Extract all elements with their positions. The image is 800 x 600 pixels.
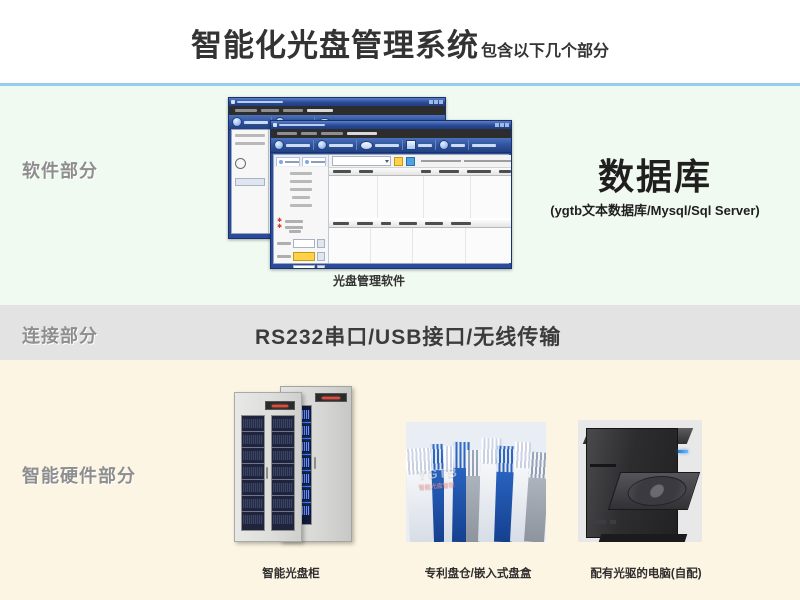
photo-watermark: YGTB 智能光盘管理 — [417, 465, 459, 492]
refresh-icon — [439, 140, 449, 150]
borrow-table-header — [329, 220, 512, 228]
column-header[interactable] — [357, 222, 373, 225]
page-title-main: 智能化光盘管理系统 — [191, 20, 479, 65]
form-field-highlighted[interactable] — [277, 252, 325, 261]
database-subtitle: (ygtb文本数据库/Mysql/Sql Server) — [525, 200, 785, 219]
database-title: 数据库 — [525, 158, 785, 196]
window-menubar-back[interactable] — [229, 106, 445, 115]
page-title-sub: 包含以下几个部分 — [481, 37, 609, 61]
table-column — [378, 176, 424, 218]
toolbar-button[interactable] — [439, 140, 465, 150]
cabinet-door-handle — [266, 467, 268, 479]
toolbar-separator — [402, 140, 403, 150]
column-header[interactable] — [399, 222, 417, 225]
column-header[interactable] — [425, 222, 443, 225]
table-column — [371, 228, 413, 263]
required-field-label — [285, 226, 303, 229]
menu-item[interactable] — [321, 132, 343, 135]
app-icon — [273, 123, 277, 127]
form-field-picker-button[interactable] — [317, 265, 325, 269]
pc-power-led — [678, 450, 688, 453]
menu-item[interactable] — [283, 109, 303, 112]
maximize-icon[interactable] — [434, 100, 438, 104]
menu-item[interactable] — [261, 109, 279, 112]
app-icon — [231, 100, 235, 104]
toolbar-button[interactable] — [317, 140, 353, 150]
cabinet-left-unit — [234, 392, 302, 542]
search-input[interactable] — [332, 156, 391, 166]
form-field-label — [277, 242, 291, 245]
pc-drive-slot — [590, 464, 616, 467]
disc-table-body[interactable] — [329, 176, 512, 218]
poster-root: 智能化光盘管理系统 包含以下几个部分 软件部分 — [0, 0, 800, 600]
field-row — [290, 188, 312, 191]
toolbar-button[interactable] — [232, 117, 268, 127]
form-field[interactable] — [277, 265, 325, 269]
column-header[interactable] — [359, 170, 373, 173]
column-header[interactable] — [467, 170, 491, 173]
toolbar-button-label — [418, 144, 432, 147]
window-menubar-front[interactable] — [271, 129, 511, 138]
column-header[interactable] — [421, 170, 431, 173]
field-row — [290, 172, 312, 175]
required-field-label — [285, 220, 303, 223]
cabinet-door-handle — [314, 457, 316, 469]
database-block: 数据库 (ygtb文本数据库/Mysql/Sql Server) — [525, 158, 785, 219]
toolbar-separator — [356, 140, 357, 150]
left-panel-form — [274, 239, 328, 269]
window-title-text — [279, 124, 325, 126]
table-column — [466, 228, 512, 263]
panel-button[interactable] — [235, 178, 265, 186]
page-title: 智能化光盘管理系统 包含以下几个部分 — [191, 20, 609, 65]
form-field-label — [277, 268, 291, 269]
form-input-active[interactable] — [293, 252, 315, 261]
chevron-down-icon — [385, 160, 389, 163]
hardware-caption-tray: 专利盘仓/嵌入式盘盒 — [398, 565, 558, 581]
software-screenshot-caption: 光盘管理软件 — [228, 272, 510, 289]
cabinet-glass-door-right — [271, 415, 295, 531]
field-row — [290, 204, 312, 207]
panel-row — [235, 142, 265, 145]
pc-base — [599, 534, 688, 542]
field-row — [290, 180, 312, 183]
tab-label — [311, 161, 325, 163]
hardware-section-label: 智能硬件部分 — [22, 462, 136, 488]
tab-icon — [279, 160, 283, 164]
content-panel — [329, 155, 512, 263]
window-toolbar-front[interactable] — [271, 138, 511, 153]
maximize-icon[interactable] — [500, 123, 504, 127]
page-header: 智能化光盘管理系统 包含以下几个部分 — [0, 0, 800, 84]
connection-interfaces-text: RS232串口/USB接口/无线传输 — [255, 321, 561, 351]
column-header[interactable] — [333, 222, 349, 225]
tab-icon — [305, 160, 309, 164]
form-input[interactable] — [293, 265, 315, 269]
toolbar-button[interactable] — [406, 140, 432, 150]
toolbar-separator — [435, 140, 436, 150]
form-field-picker-button[interactable] — [317, 252, 325, 261]
tab-disc-info[interactable] — [276, 157, 300, 166]
toolbar-button-label — [375, 144, 399, 147]
disc-out-icon — [317, 140, 327, 150]
menu-item[interactable] — [301, 132, 317, 135]
window-body-front: ✱ ✱ — [273, 154, 509, 264]
menu-item[interactable] — [235, 109, 257, 112]
field-row — [274, 230, 328, 233]
toolbar-button-label — [244, 121, 268, 124]
toolbar-separator — [468, 140, 469, 150]
window-controls[interactable] — [495, 123, 509, 127]
field-label — [289, 230, 301, 233]
toolbar-button[interactable] — [360, 141, 399, 150]
field-row — [292, 196, 310, 199]
minimize-icon[interactable] — [429, 100, 433, 104]
disc-table-header — [329, 168, 512, 176]
left-panel: ✱ ✱ — [274, 155, 329, 263]
minimize-icon[interactable] — [495, 123, 499, 127]
left-panel-tabs[interactable] — [274, 155, 328, 167]
toolbar-button-label — [451, 144, 465, 147]
pc-front-button — [592, 520, 606, 524]
table-column — [329, 228, 371, 263]
table-column — [413, 228, 466, 263]
window-title-text — [237, 101, 283, 103]
hardware-caption-pc: 配有光驱的电脑(自配) — [562, 565, 730, 581]
settings-icon — [406, 140, 416, 150]
column-header[interactable] — [439, 170, 459, 173]
table-column — [471, 176, 512, 218]
tab-borrow-info[interactable] — [302, 157, 326, 166]
cabinet-glass-door-left — [241, 415, 265, 531]
table-column — [424, 176, 472, 218]
connection-section-label: 连接部分 — [22, 322, 98, 348]
column-header[interactable] — [451, 222, 471, 225]
software-section-label: 软件部分 — [22, 157, 98, 183]
record-count-text — [421, 160, 461, 162]
search-go-icon[interactable] — [406, 157, 415, 166]
cabinet-led-display — [265, 401, 295, 410]
toolbar-button-label — [472, 144, 496, 147]
status-text — [464, 160, 512, 162]
form-input[interactable] — [293, 239, 315, 248]
panel-row — [235, 134, 265, 137]
magnifier-icon — [235, 158, 246, 169]
search-bar[interactable] — [329, 155, 512, 168]
column-header[interactable] — [381, 222, 391, 225]
toolbar-separator — [313, 140, 314, 150]
tab-label — [285, 161, 299, 163]
computer-with-optical-drive-photo — [578, 420, 702, 542]
software-screenshot: ✱ ✱ — [228, 97, 510, 267]
menu-item-selected[interactable] — [307, 109, 333, 112]
menu-item-selected[interactable] — [347, 132, 377, 135]
cabinet-led-display — [315, 393, 347, 402]
disc-tray-photo: YGTB 智能光盘管理 — [406, 422, 546, 542]
app-window-front: ✱ ✱ — [270, 120, 512, 269]
window-titlebar-back — [229, 98, 445, 106]
table-column — [329, 176, 378, 218]
menu-item[interactable] — [277, 132, 297, 135]
toolbar-button-label — [329, 144, 353, 147]
column-header[interactable] — [499, 170, 511, 173]
disc-cabinet-photo — [218, 380, 364, 548]
window-controls[interactable] — [429, 100, 443, 104]
disc-query-icon — [360, 141, 373, 150]
pc-front-button-small — [610, 520, 616, 524]
toolbar-button[interactable] — [472, 144, 496, 147]
borrow-table-body[interactable] — [329, 228, 512, 263]
window-titlebar-front — [271, 121, 511, 129]
close-icon[interactable] — [439, 100, 443, 104]
form-field[interactable] — [277, 239, 325, 248]
form-field-picker-button[interactable] — [317, 239, 325, 248]
back-left-panel — [232, 130, 269, 233]
toolbar-button[interactable] — [274, 140, 310, 150]
left-panel-field-list — [274, 167, 328, 207]
disc-in-icon — [274, 140, 284, 150]
toolbar-button-label — [286, 144, 310, 147]
close-icon[interactable] — [505, 123, 509, 127]
search-filter-icon[interactable] — [394, 157, 403, 166]
column-header[interactable] — [333, 170, 351, 173]
form-field-label — [277, 255, 291, 258]
import-icon — [232, 117, 242, 127]
hardware-caption-cabinet: 智能光盘柜 — [218, 565, 364, 581]
